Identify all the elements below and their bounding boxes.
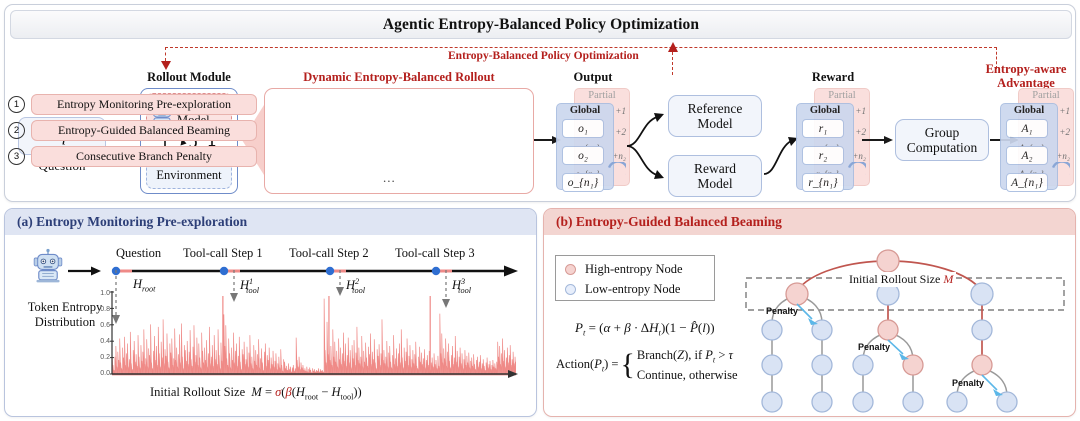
formula-case-1: Branch(Z), if Pt > τ (637, 348, 733, 362)
output-partial-item-2: +2 (615, 127, 626, 137)
reward-loop-icon (844, 162, 866, 184)
feedback-arrow-down-icon (158, 58, 174, 70)
penalty-label-1: Penalty (766, 306, 798, 316)
panel-b-title: (b) Entropy-Guided Balanced Beaming (544, 209, 1075, 235)
timeline-label-1: Tool-call Step 1 (183, 246, 263, 261)
dynamic-rollout-box (264, 88, 534, 194)
output-partial-label: Partial (575, 90, 629, 101)
dynamic-rollout-item-2[interactable]: 2 Entropy-Guided Balanced Beaming (8, 120, 257, 141)
page-title: Agentic Entropy-Balanced Policy Optimiza… (383, 16, 699, 34)
y-tick-1.0: 1.0 (92, 290, 110, 297)
advantage-stack: Partial +1 +2 +n₂ Global A₁ ⋯A_{n₁} A₂ ⋯… (1000, 88, 1074, 190)
reward-global-label: Global (797, 105, 853, 116)
reward-title: Reward (796, 70, 870, 85)
output-cell-3: o_{n₁} (562, 173, 604, 192)
reward-stack: Partial +1 +2 +n₂ Global r₁ ⋯r_{n₁} r₂ ⋯… (796, 88, 870, 190)
group-computation-l1: Group (925, 125, 960, 140)
low-entropy-dot-icon (565, 284, 576, 295)
caption-text: Initial Rollout Size (150, 385, 245, 399)
formula-action: Action(Pt) = { Branch(Z), if Pt > τ Cont… (556, 348, 738, 383)
advantage-global-label: Global (1001, 105, 1057, 116)
panel-a-title: (a) Entropy Monitoring Pre-exploration (5, 209, 536, 235)
item-label-3: Consecutive Branch Penalty (31, 146, 257, 167)
output-loop-icon (604, 162, 626, 184)
output-global-label: Global (557, 105, 613, 116)
rollout-module-title: Rollout Module (137, 70, 241, 85)
reward-partial-label: Partial (815, 90, 869, 101)
timeline-label-2: Tool-call Step 2 (289, 246, 369, 261)
reference-model-l1: Reference (688, 101, 743, 116)
y-tick-0.6: 0.6 (92, 322, 110, 329)
tool-env-label-l2: Environment (156, 168, 221, 182)
output-title: Output (556, 70, 630, 85)
advantage-cell-3: A_{n₁} (1006, 173, 1048, 192)
advantage-partial-label: Partial (1019, 90, 1073, 101)
reward-model-l2: Model (697, 176, 732, 191)
group-computation-l2: Computation (907, 140, 978, 155)
penalty-label-2: Penalty (858, 342, 890, 352)
dynamic-rollout-ellipsis: ... (383, 170, 396, 186)
y-tick-0.8: 0.8 (92, 306, 110, 313)
formula-case-2: Continue, otherwise (637, 368, 738, 382)
arrow-reward-model-to-reward-icon (762, 128, 800, 178)
group-computation-box: Group Computation (895, 119, 989, 161)
dynamic-rollout-item-1[interactable]: 1 Entropy Monitoring Pre-exploration (8, 94, 257, 115)
arrow-reward-to-group-icon (862, 134, 894, 146)
formula-action-lhs: Action(Pt) = (556, 357, 618, 374)
feedback-loop-line (165, 47, 997, 48)
penalty-label-3: Penalty (952, 378, 984, 388)
advantage-loop-icon (1048, 162, 1070, 184)
reward-model-label: Reward Model (694, 161, 736, 191)
high-entropy-dot-icon (565, 264, 576, 275)
entropy-node-legend: High-entropy Node Low-entropy Node (555, 255, 715, 301)
advantage-partial-item-1: +1 (1059, 106, 1070, 116)
arrow-robot-to-timeline-icon (68, 265, 102, 277)
y-tick-0.4: 0.4 (92, 338, 110, 345)
legend-row-high: High-entropy Node (565, 259, 714, 279)
chart-axes (110, 291, 520, 379)
advantage-title: Entropy-aware Advantage (980, 62, 1072, 90)
output-partial-item-1: +1 (615, 106, 626, 116)
reward-model-box: Reward Model (668, 155, 762, 197)
advantage-cell-2: A₂ (1006, 146, 1048, 165)
y-axis-label-l2: Distribution (35, 315, 95, 329)
reward-partial-item-1: +1 (855, 106, 866, 116)
reward-cell-2: r₂ (802, 146, 844, 165)
item-number-1: 1 (8, 96, 25, 113)
feedback-arrow-up-icon (665, 42, 681, 54)
y-tick-0.0: 0.0 (92, 370, 110, 377)
figure-title-banner: Agentic Entropy-Balanced Policy Optimiza… (10, 10, 1072, 39)
initial-rollout-size-label: Initial Rollout Size M (846, 272, 956, 287)
robot-icon (33, 248, 63, 284)
reward-cell-1: r₁ (802, 119, 844, 138)
advantage-cell-1: A₁ (1006, 119, 1048, 138)
output-cell-2: o₂ (562, 146, 604, 165)
feedback-loop-label: Entropy-Balanced Policy Optimization (448, 50, 639, 62)
advantage-partial-item-2: +2 (1059, 127, 1070, 137)
timeline-label-3: Tool-call Step 3 (395, 246, 475, 261)
item-number-3: 3 (8, 148, 25, 165)
output-cell-1: o₁ (562, 119, 604, 138)
legend-row-low: Low-entropy Node (565, 279, 714, 299)
legend-label-low: Low-entropy Node (585, 282, 680, 297)
advantage-title-l1: Entropy-aware (986, 62, 1067, 76)
reference-model-l2: Model (697, 116, 732, 131)
timeline-label-0: Question (116, 246, 161, 261)
branch-arrows-icon (626, 108, 670, 184)
reward-cell-3: r_{n₁} (802, 173, 844, 192)
figure-root: Agentic Entropy-Balanced Policy Optimiza… (0, 0, 1080, 421)
reference-model-box: Reference Model (668, 95, 762, 137)
dynamic-rollout-item-3[interactable]: 3 Consecutive Branch Penalty (8, 146, 257, 167)
item-label-2: Entropy-Guided Balanced Beaming (31, 120, 257, 141)
reward-model-l1: Reward (694, 161, 736, 176)
group-computation-label: Group Computation (907, 125, 978, 155)
panel-a-caption: Initial Rollout Size M = σ(β(Hroot − Hto… (150, 385, 362, 402)
beam-search-tree (740, 244, 1076, 416)
item-number-2: 2 (8, 122, 25, 139)
reference-model-label: Reference Model (688, 101, 743, 131)
dynamic-rollout-title: Dynamic Entropy-Balanced Rollout (264, 70, 534, 85)
output-partial-item-3: +n₂ (612, 151, 626, 161)
initial-rollout-text: Initial Rollout Size (849, 272, 940, 286)
reward-partial-item-3: +n₂ (852, 151, 866, 161)
legend-label-high: High-entropy Node (585, 262, 683, 277)
output-stack: Partial +1 +2 +n₂ Global o₁ ⋯o_{n₁} o₂ ⋯… (556, 88, 630, 190)
y-tick-0.2: 0.2 (92, 354, 110, 361)
formula-pt: Pt = (α + β · ΔHt)(1 − P̂(l)) (575, 320, 715, 338)
item-label-1: Entropy Monitoring Pre-exploration (31, 94, 257, 115)
advantage-partial-item-3: +n₂ (1056, 151, 1070, 161)
